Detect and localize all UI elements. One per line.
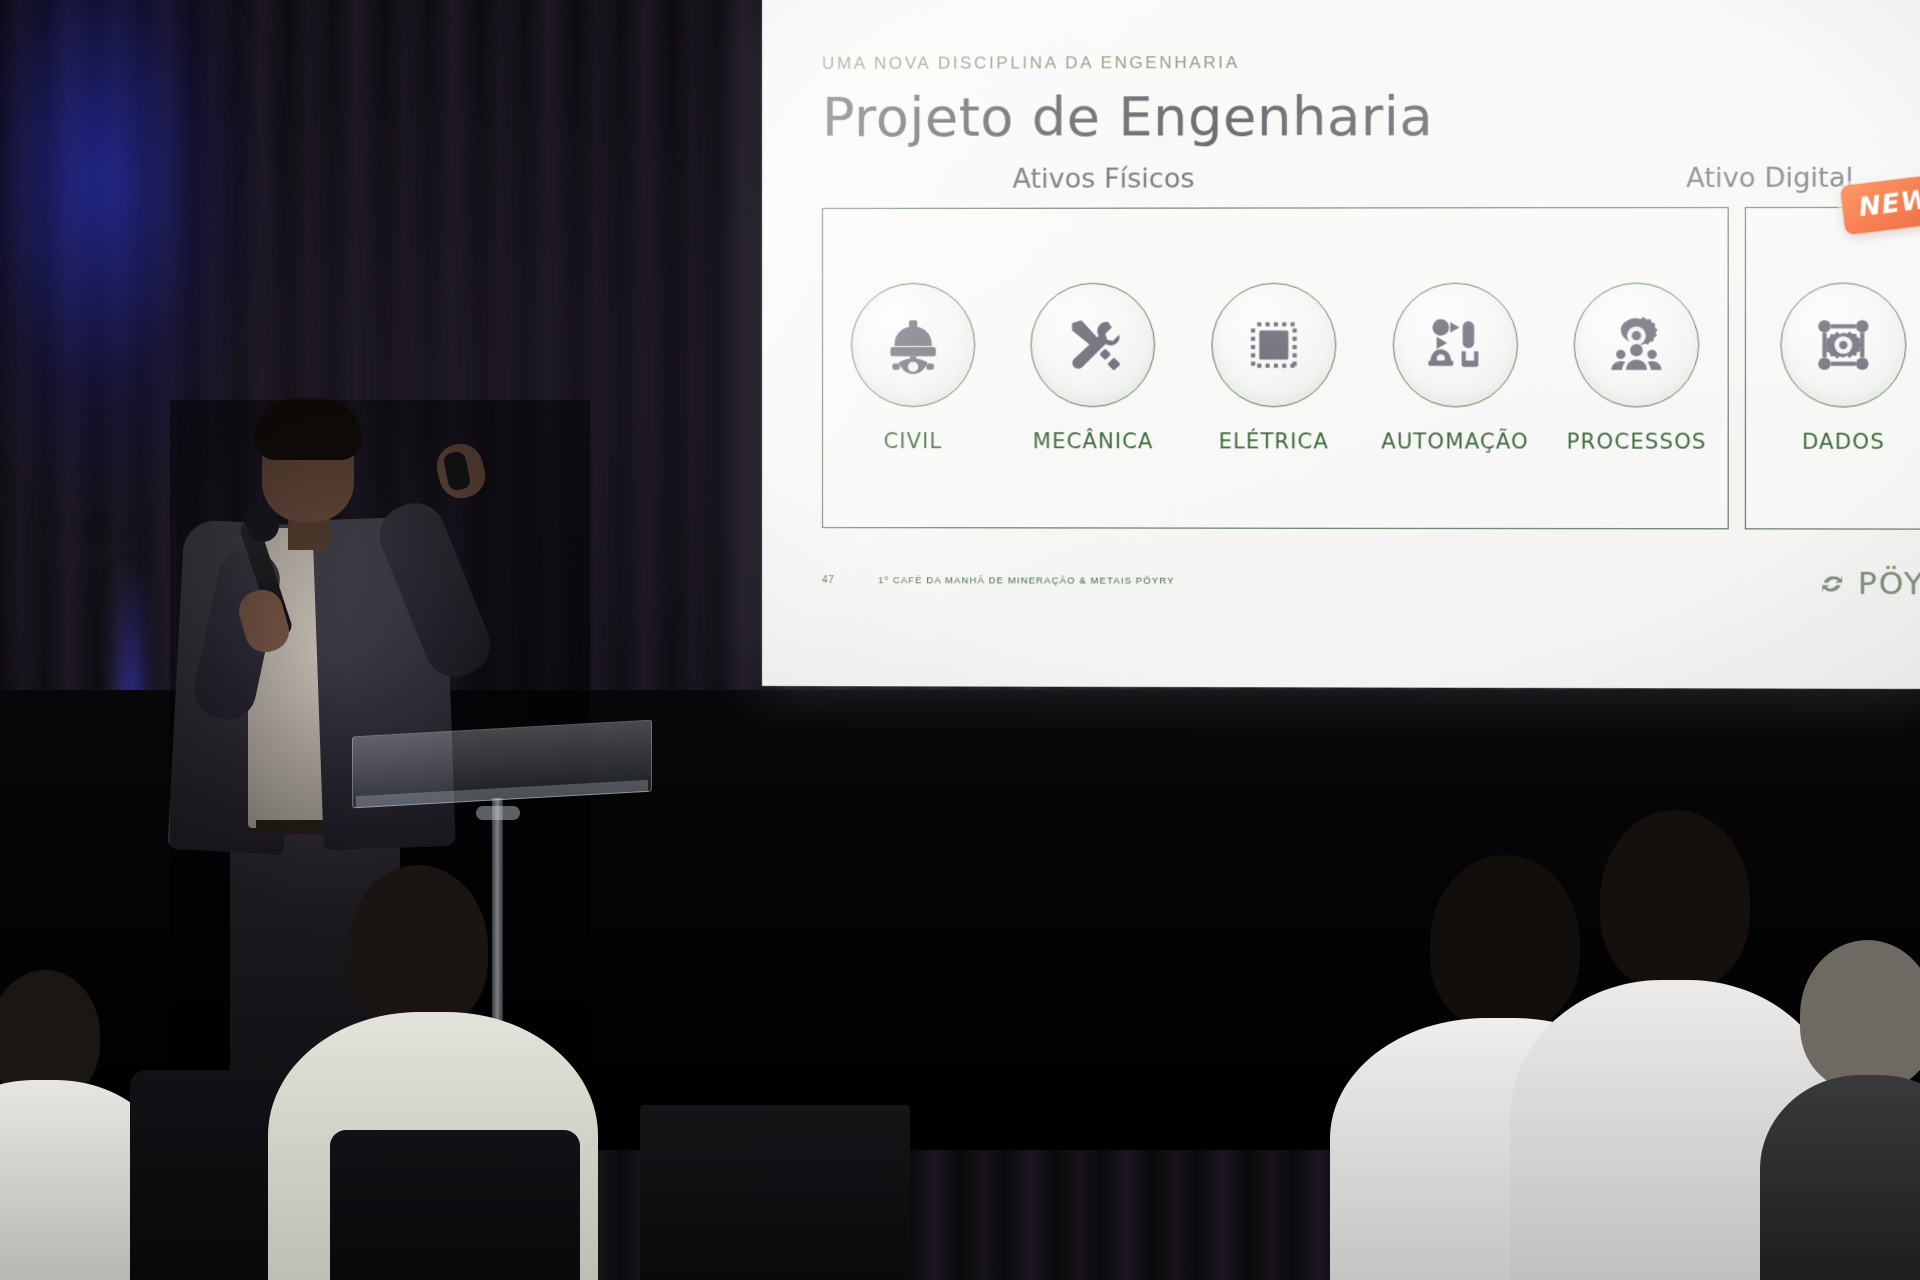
brand-logo: PÖYRY — [1819, 566, 1920, 603]
civil-icon-circle — [851, 283, 975, 407]
circular-arrow-logo-icon — [1819, 571, 1845, 597]
automacao-icon-circle — [1392, 283, 1517, 408]
asset-item-mecanica: MECÂNICA — [1003, 283, 1183, 454]
slide-page-number: 47 — [822, 575, 878, 586]
asset-item-eletrica: ELÉTRICA — [1183, 283, 1364, 454]
brand-name: PÖYRY — [1858, 566, 1920, 603]
gear-people-icon — [1603, 312, 1670, 378]
group-labels: Ativos Físicos Ativo Digital — [822, 162, 1920, 207]
asset-item-dados: DADOS — [1746, 282, 1920, 453]
stage-table — [640, 1105, 910, 1280]
audience-member — [1770, 950, 1920, 1280]
asset-item-automacao: AUTOMAÇÃO — [1364, 283, 1545, 454]
mecanica-icon-circle — [1031, 283, 1156, 407]
lectern-hub — [476, 806, 520, 820]
wrench-screwdriver-icon — [1060, 312, 1126, 378]
eletrica-icon-circle — [1211, 283, 1336, 408]
chair-back — [330, 1130, 580, 1280]
asset-label-dados: DADOS — [1802, 430, 1885, 454]
projection-screen: UMA NOVA DISCIPLINA DA ENGENHARIA Projet… — [762, 0, 1920, 689]
hard-hat-gear-icon — [880, 312, 946, 378]
asset-label-mecanica: MECÂNICA — [1033, 429, 1154, 453]
data-network-gear-icon — [1810, 312, 1877, 379]
processos-icon-circle — [1574, 283, 1700, 408]
group-label-physical: Ativos Físicos — [1012, 163, 1194, 194]
asset-label-automacao: AUTOMAÇÃO — [1381, 429, 1529, 453]
dados-icon-circle — [1780, 283, 1906, 408]
panel-digital-asset: DADOS NEW — [1745, 207, 1920, 530]
asset-label-eletrica: ELÉTRICA — [1219, 429, 1329, 453]
slide-surface: UMA NOVA DISCIPLINA DA ENGENHARIA Projet… — [762, 0, 1920, 689]
group-label-digital: Ativo Digital — [1686, 163, 1853, 194]
panel-physical-assets: CIVIL — [822, 207, 1729, 529]
presentation-photo: UMA NOVA DISCIPLINA DA ENGENHARIA Projet… — [0, 0, 1920, 1280]
slide-title: Projeto de Engenharia — [822, 84, 1920, 149]
slide-footer: 47 1º CAFÉ DA MANHÃ DE MINERAÇÃO & METAI… — [822, 570, 1920, 592]
robot-arm-icon — [1422, 312, 1489, 378]
asset-label-processos: PROCESSOS — [1567, 430, 1707, 454]
speaker-hair — [254, 398, 362, 460]
asset-label-civil: CIVIL — [884, 429, 943, 453]
chair-back — [130, 1070, 280, 1280]
microchip-icon — [1241, 312, 1307, 378]
asset-item-processos: PROCESSOS — [1546, 283, 1728, 454]
asset-item-civil: CIVIL — [823, 283, 1003, 453]
asset-panels: CIVIL — [822, 207, 1920, 530]
slide-footer-note: 1º CAFÉ DA MANHÃ DE MINERAÇÃO & METAIS P… — [878, 575, 1175, 587]
slide-eyebrow: UMA NOVA DISCIPLINA DA ENGENHARIA — [822, 52, 1920, 74]
